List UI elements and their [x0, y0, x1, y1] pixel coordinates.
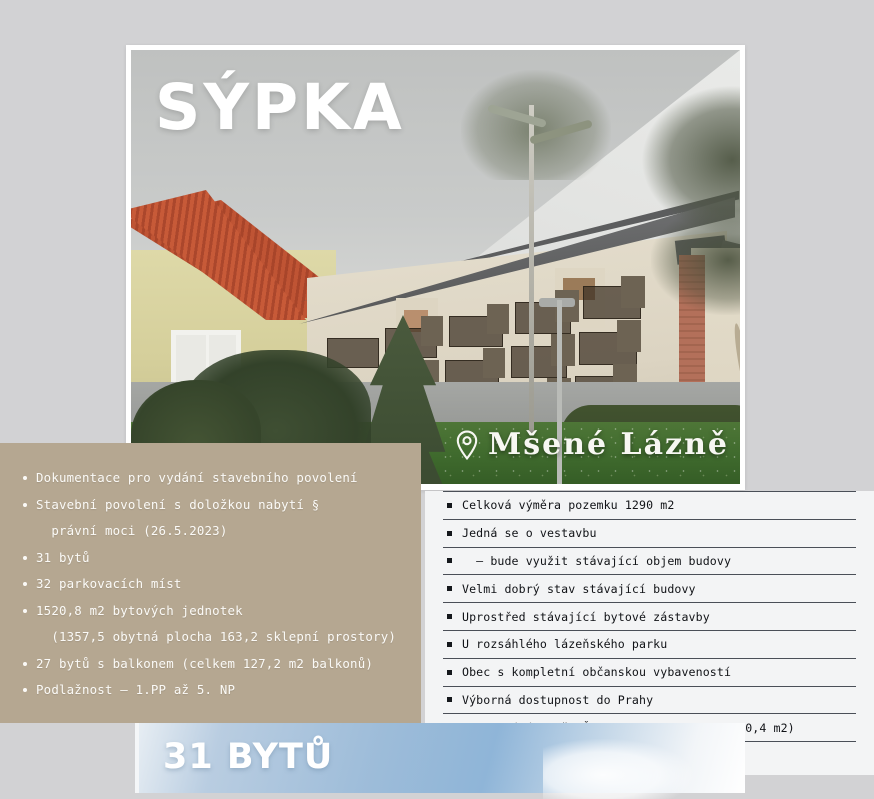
property-fact-item: U rozsáhlého lázeňského parku [443, 630, 856, 658]
property-fact-item: Uprostřed stávající bytové zástavby [443, 602, 856, 630]
property-fact-item: Celková výměra pozemku 1290 m2 [443, 491, 856, 519]
hero-photo-card: SÝPKA Mšené Lázně [126, 45, 745, 490]
project-detail-item: (1357,5 obytná plocha 163,2 sklepní pros… [22, 624, 421, 651]
map-pin-icon [455, 430, 479, 460]
project-detail-item: 32 parkovacích míst [22, 571, 421, 598]
tree-right-lower [651, 205, 740, 315]
square-bullet-icon [447, 642, 452, 647]
property-fact-item: Obec s kompletní občanskou vybaveností [443, 658, 856, 686]
square-bullet-icon [447, 503, 452, 508]
page-title: SÝPKA [155, 76, 405, 139]
property-fact-text: Obec s kompletní občanskou vybaveností [462, 665, 856, 679]
location-name: Mšené Lázně [488, 427, 729, 462]
project-detail-item: právní moci (26.5.2023) [22, 518, 421, 545]
property-fact-text: Jedná se o vestavbu [462, 526, 856, 540]
property-fact-text: Uprostřed stávající bytové zástavby [462, 610, 856, 624]
property-fact-text: Velmi dobrý stav stávající budovy [462, 582, 856, 596]
property-fact-text: Celková výměra pozemku 1290 m2 [462, 498, 856, 512]
property-fact-item: – bude využit stávající objem budovy [443, 547, 856, 575]
band-left-edge [135, 723, 139, 793]
property-fact-item: Jedná se o vestavbu [443, 519, 856, 547]
location-label: Mšené Lázně [455, 427, 729, 462]
project-detail-item: 27 bytů s balkonem (celkem 127,2 m2 balk… [22, 651, 421, 678]
property-facts-list: Celková výměra pozemku 1290 m2Jedná se o… [425, 491, 874, 742]
square-bullet-icon [447, 558, 452, 563]
project-detail-item: 31 bytů [22, 545, 421, 572]
birch-trunk [529, 105, 534, 435]
property-fact-item: Velmi dobrý stav stávající budovy [443, 574, 856, 602]
square-bullet-icon [447, 531, 452, 536]
square-bullet-icon [447, 697, 452, 702]
hero-photograph: SÝPKA Mšené Lázně [131, 50, 740, 484]
square-bullet-icon [447, 614, 452, 619]
bottom-highlight-band: 31 BYTŮ [135, 723, 745, 793]
unit-count-label: 31 BYTŮ [163, 737, 333, 777]
property-fact-text: – bude využit stávající objem budovy [462, 554, 856, 568]
property-fact-text: Výborná dostupnost do Prahy [462, 693, 856, 707]
square-bullet-icon [447, 586, 452, 591]
property-fact-item: Výborná dostupnost do Prahy [443, 686, 856, 714]
project-detail-item: 1520,8 m2 bytových jednotek [22, 598, 421, 625]
project-details-list: Dokumentace pro vydání stavebního povole… [0, 443, 421, 704]
project-detail-item: Podlažnost – 1.PP až 5. NP [22, 677, 421, 704]
wheat-mural-icon [735, 305, 740, 385]
project-detail-item: Dokumentace pro vydání stavebního povole… [22, 465, 421, 492]
project-detail-item: Stavební povolení s doložkou nabytí § [22, 492, 421, 519]
project-details-panel: Dokumentace pro vydání stavebního povole… [0, 443, 421, 723]
property-fact-text: U rozsáhlého lázeňského parku [462, 637, 856, 651]
square-bullet-icon [447, 670, 452, 675]
